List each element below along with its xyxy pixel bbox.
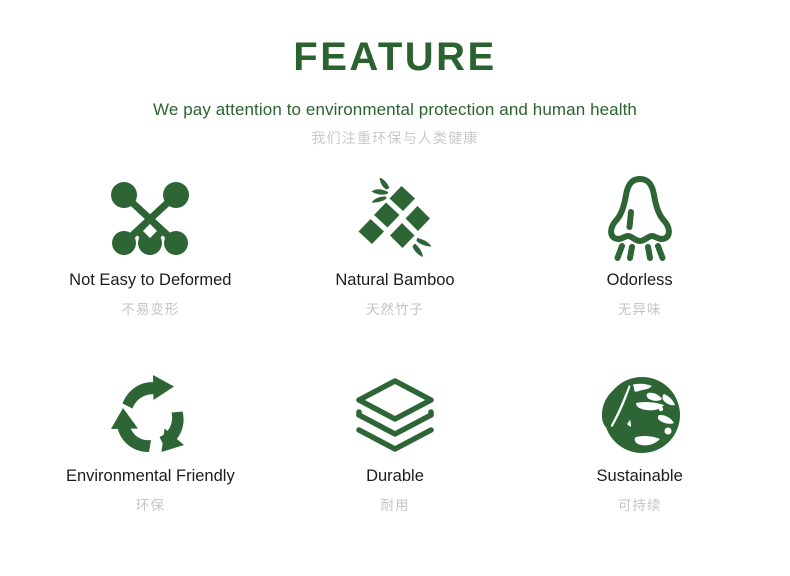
feature-grid: Not Easy to Deformed 不易变形 xyxy=(0,171,790,563)
nose-smell-icon xyxy=(602,171,678,267)
feature-section: FEATURE We pay attention to environmenta… xyxy=(0,0,790,576)
globe-leaf-icon xyxy=(598,367,682,463)
feature-item: Durable 耐用 xyxy=(273,367,518,563)
section-header: FEATURE We pay attention to environmenta… xyxy=(0,0,790,147)
stacked-layers-icon xyxy=(353,367,437,463)
feature-item: Not Easy to Deformed 不易变形 xyxy=(28,171,273,367)
feature-label-chinese: 耐用 xyxy=(380,498,409,514)
feature-item: Natural Bamboo 天然竹子 xyxy=(273,171,518,367)
molecule-nodes-icon xyxy=(108,171,192,267)
subtitle-english: We pay attention to environmental protec… xyxy=(0,100,790,120)
feature-label-chinese: 环保 xyxy=(136,498,165,514)
feature-label-english: Not Easy to Deformed xyxy=(69,271,231,291)
feature-label-english: Durable xyxy=(366,467,424,487)
recycle-arrows-icon xyxy=(108,367,192,463)
feature-label-english: Natural Bamboo xyxy=(335,271,454,291)
feature-item: Environmental Friendly 环保 xyxy=(28,367,273,563)
feature-label-english: Odorless xyxy=(607,271,673,291)
page-title: FEATURE xyxy=(0,36,790,78)
feature-label-chinese: 天然竹子 xyxy=(366,302,424,318)
feature-label-chinese: 可持续 xyxy=(618,498,662,514)
feature-label-english: Sustainable xyxy=(597,467,683,487)
bamboo-stalks-icon xyxy=(355,171,435,267)
feature-item: Odorless 无异味 xyxy=(517,171,762,367)
subtitle-chinese: 我们注重环保与人类健康 xyxy=(0,130,790,147)
feature-label-chinese: 不易变形 xyxy=(121,302,179,318)
feature-label-chinese: 无异味 xyxy=(618,302,662,318)
feature-label-english: Environmental Friendly xyxy=(66,467,235,487)
feature-item: Sustainable 可持续 xyxy=(517,367,762,563)
